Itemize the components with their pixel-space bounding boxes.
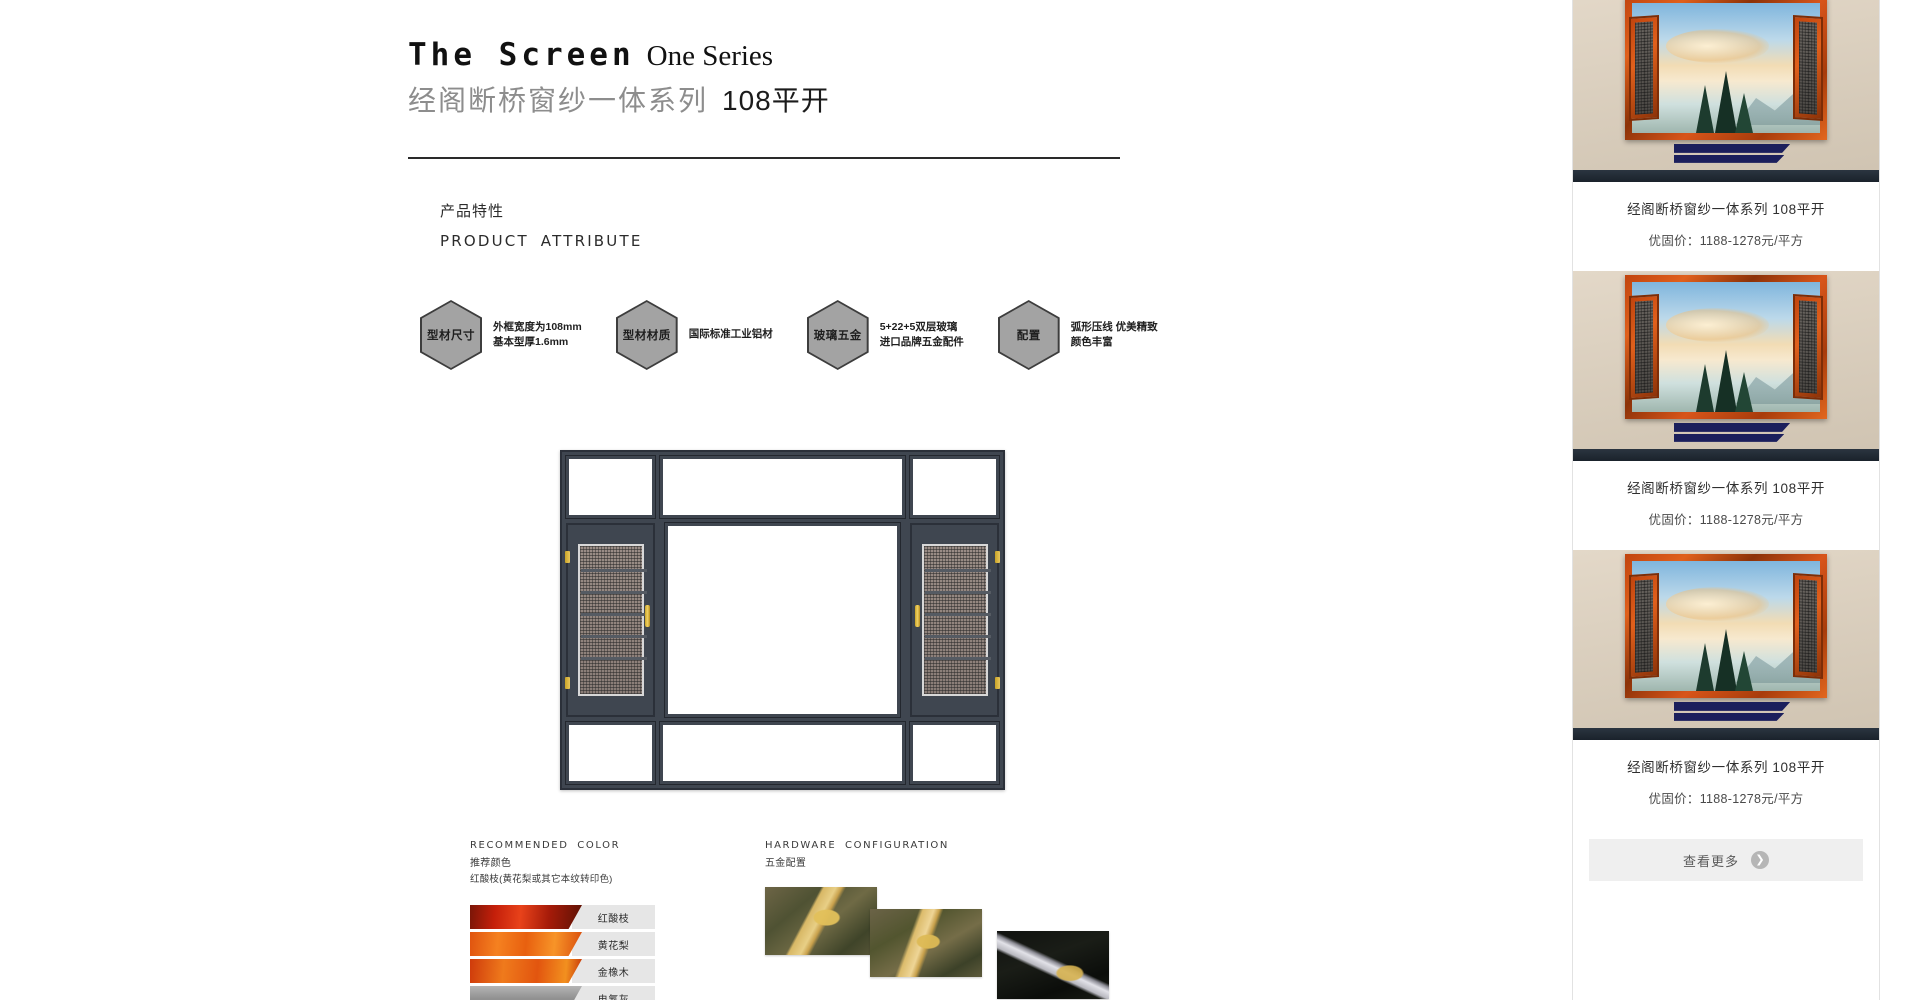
gold-handle-photo-2 bbox=[870, 909, 982, 977]
baseboard bbox=[1573, 449, 1879, 461]
banner-line-1 bbox=[1674, 702, 1790, 711]
insect-screen-mesh bbox=[578, 544, 644, 696]
product-price: 优固价：1188-1278元/平方 bbox=[1573, 230, 1879, 249]
color-section-title-en: RECOMMENDED COLOR bbox=[470, 840, 655, 851]
cloud-shape bbox=[1666, 587, 1769, 621]
badge-description: 弧形压线 优美精致 颜色丰富 bbox=[1071, 320, 1158, 350]
badge-label: 配置 bbox=[1017, 327, 1041, 343]
badge-desc-line-1: 5+22+5双层玻璃 bbox=[880, 320, 964, 335]
hinge-icon bbox=[565, 677, 570, 689]
open-sash-left bbox=[1629, 15, 1659, 121]
badge-desc-line-1: 国际标准工业铝材 bbox=[689, 327, 773, 342]
page-title: The ScreenOne Series 经阁断桥窗纱一体系列108平开 bbox=[408, 40, 1168, 115]
tree-shape bbox=[1715, 350, 1737, 412]
cloud-shape bbox=[1666, 308, 1769, 342]
tree-shape bbox=[1735, 93, 1753, 133]
attribute-badge-profile-size: 型材尺寸 外框宽度为108mm 基本型厚1.6mm bbox=[420, 300, 582, 370]
chevron-right-icon: ❯ bbox=[1751, 851, 1769, 869]
screen-mesh bbox=[1799, 300, 1817, 393]
badge-desc-line-2: 颜色丰富 bbox=[1071, 335, 1158, 350]
attribute-badge-configuration: 配置 弧形压线 优美精致 颜色丰富 bbox=[998, 300, 1158, 370]
color-chip bbox=[470, 932, 582, 956]
window-frame bbox=[560, 450, 1005, 790]
screen-mesh bbox=[1799, 579, 1817, 672]
tree-shape bbox=[1696, 643, 1714, 691]
color-swatch-row[interactable]: 金橡木 bbox=[470, 959, 655, 983]
related-products-sidebar: 经阁断桥窗纱一体系列 108平开 优固价：1188-1278元/平方 bbox=[1245, 0, 1920, 1000]
glass-pane bbox=[566, 722, 655, 784]
color-swatch-row[interactable]: 黄花梨 bbox=[470, 932, 655, 956]
insect-screen-mesh bbox=[922, 544, 988, 696]
badge-description: 国际标准工业铝材 bbox=[689, 327, 773, 342]
window-handle-icon bbox=[645, 605, 650, 627]
mesh-divider bbox=[581, 591, 647, 594]
product-card-text: 经阁断桥窗纱一体系列 108平开 优固价：1188-1278元/平方 bbox=[1573, 461, 1879, 550]
product-title: 经阁断桥窗纱一体系列 108平开 bbox=[1573, 756, 1879, 776]
color-name: 红酸枝 bbox=[572, 905, 655, 929]
badge-desc-line-1: 弧形压线 优美精致 bbox=[1071, 320, 1158, 335]
title-cn-series: 经阁断桥窗纱一体系列 bbox=[408, 85, 708, 116]
product-label-banner bbox=[1674, 702, 1790, 723]
window-row-middle bbox=[566, 523, 999, 717]
open-sash-right bbox=[1793, 15, 1823, 121]
mesh-divider bbox=[925, 591, 991, 594]
color-name: 黄花梨 bbox=[572, 932, 655, 956]
glass-pane bbox=[910, 722, 999, 784]
badge-desc-line-1: 外框宽度为108mm bbox=[493, 320, 582, 335]
product-title: 经阁断桥窗纱一体系列 108平开 bbox=[1573, 477, 1879, 497]
hardware-section-title-cn: 五金配置 bbox=[765, 854, 1165, 869]
attribute-badge-material: 型材材质 国际标准工业铝材 bbox=[616, 300, 773, 370]
attribute-badge-glass-hardware: 玻璃五金 5+22+5双层玻璃 进口品牌五金配件 bbox=[807, 300, 964, 370]
baseboard bbox=[1573, 728, 1879, 740]
color-chip bbox=[470, 905, 582, 929]
hexagon-icon: 配置 bbox=[998, 300, 1060, 370]
title-cn-model: 108平开 bbox=[722, 85, 830, 116]
tree-shape bbox=[1735, 372, 1753, 412]
mesh-divider bbox=[925, 613, 991, 616]
product-card-text: 经阁断桥窗纱一体系列 108平开 优固价：1188-1278元/平方 bbox=[1573, 740, 1879, 829]
banner-line-1 bbox=[1674, 423, 1790, 432]
product-image bbox=[1573, 0, 1879, 182]
hinge-icon bbox=[995, 677, 1000, 689]
banner-line-1 bbox=[1674, 144, 1790, 153]
badge-description: 外框宽度为108mm 基本型厚1.6mm bbox=[493, 320, 582, 350]
screen-mesh bbox=[1635, 21, 1653, 114]
color-section-subtitle-cn: 红酸枝(黄花梨或其它本纹转印色) bbox=[470, 871, 655, 885]
view-more-label: 查看更多 bbox=[1683, 851, 1739, 870]
gold-handle-photo-1 bbox=[765, 887, 877, 955]
cloud-shape bbox=[1666, 29, 1769, 63]
recommended-color-section: RECOMMENDED COLOR 推荐颜色 红酸枝(黄花梨或其它本纹转印色) … bbox=[470, 840, 655, 1000]
color-chip bbox=[470, 986, 582, 1000]
color-section-title-cn: 推荐颜色 bbox=[470, 854, 655, 869]
wood-grain-window-render bbox=[1625, 0, 1827, 140]
glass-pane bbox=[660, 722, 905, 784]
title-chinese: 经阁断桥窗纱一体系列108平开 bbox=[408, 87, 1168, 115]
open-sash-left bbox=[1629, 573, 1659, 679]
badge-desc-line-2: 进口品牌五金配件 bbox=[880, 335, 964, 350]
mesh-divider bbox=[925, 569, 991, 572]
product-card[interactable]: 经阁断桥窗纱一体系列 108平开 优固价：1188-1278元/平方 bbox=[1573, 271, 1879, 550]
product-label-banner bbox=[1674, 423, 1790, 444]
scenery-glass bbox=[1632, 282, 1820, 412]
color-swatch-list: 红酸枝 黄花梨 金橡木 电氟灰 bbox=[470, 905, 655, 1000]
scenery-glass bbox=[1632, 3, 1820, 133]
glass-pane bbox=[566, 456, 655, 518]
main-content-column: The ScreenOne Series 经阁断桥窗纱一体系列108平开 产品特… bbox=[0, 0, 1245, 1000]
tree-shape bbox=[1735, 651, 1753, 691]
banner-line-2 bbox=[1674, 713, 1784, 721]
mesh-divider bbox=[581, 657, 647, 660]
title-series-text: One Series bbox=[647, 40, 773, 72]
attribute-heading-cn: 产品特性 bbox=[440, 200, 643, 221]
glass-pane bbox=[910, 456, 999, 518]
badge-desc-line-2: 基本型厚1.6mm bbox=[493, 335, 582, 350]
hardware-photo-group bbox=[765, 887, 1165, 1000]
title-divider bbox=[408, 157, 1120, 159]
baseboard bbox=[1573, 170, 1879, 182]
open-sash-right bbox=[1793, 573, 1823, 679]
scenery-glass bbox=[1632, 561, 1820, 691]
screen-mesh bbox=[1799, 21, 1817, 114]
hardware-section-title-en: HARDWARE CONFIGURATION bbox=[765, 840, 1165, 851]
open-sash-right bbox=[1793, 294, 1823, 400]
hexagon-icon: 型材材质 bbox=[616, 300, 678, 370]
badge-label: 型材尺寸 bbox=[427, 327, 475, 343]
color-name: 金橡木 bbox=[572, 959, 655, 983]
product-card-text: 经阁断桥窗纱一体系列 108平开 优固价：1188-1278元/平方 bbox=[1573, 182, 1879, 271]
product-title: 经阁断桥窗纱一体系列 108平开 bbox=[1573, 198, 1879, 218]
mesh-divider bbox=[925, 657, 991, 660]
banner-line-2 bbox=[1674, 155, 1784, 163]
product-image bbox=[1573, 550, 1879, 740]
color-swatch-row[interactable]: 电氟灰 bbox=[470, 986, 655, 1000]
view-more-button[interactable]: 查看更多 ❯ bbox=[1589, 839, 1863, 881]
window-row-bottom bbox=[566, 722, 999, 784]
tree-shape bbox=[1715, 629, 1737, 691]
wood-grain-window-render bbox=[1625, 275, 1827, 419]
screen-mesh bbox=[1635, 579, 1653, 672]
product-list-panel: 经阁断桥窗纱一体系列 108平开 优固价：1188-1278元/平方 bbox=[1572, 0, 1880, 1000]
screen-mesh bbox=[1635, 300, 1653, 393]
glass-pane bbox=[660, 456, 905, 518]
window-diagram bbox=[560, 450, 1005, 790]
mesh-divider bbox=[925, 635, 991, 638]
tree-shape bbox=[1715, 71, 1737, 133]
product-image bbox=[1573, 271, 1879, 461]
attribute-badges-row: 型材尺寸 外框宽度为108mm 基本型厚1.6mm 型材材质 国际标准工业铝材 bbox=[420, 300, 1158, 370]
mesh-divider bbox=[581, 569, 647, 572]
product-price: 优固价：1188-1278元/平方 bbox=[1573, 509, 1879, 528]
hinge-icon bbox=[995, 551, 1000, 563]
color-swatch-row[interactable]: 红酸枝 bbox=[470, 905, 655, 929]
product-label-banner bbox=[1674, 144, 1790, 165]
product-card[interactable]: 经阁断桥窗纱一体系列 108平开 优固价：1188-1278元/平方 bbox=[1573, 0, 1879, 271]
title-english: The ScreenOne Series bbox=[408, 40, 1168, 71]
open-sash-left bbox=[1629, 294, 1659, 400]
title-screen-text: The Screen bbox=[408, 37, 635, 73]
product-price: 优固价：1188-1278元/平方 bbox=[1573, 788, 1879, 807]
banner-line-2 bbox=[1674, 434, 1784, 442]
badge-label: 玻璃五金 bbox=[814, 327, 862, 343]
color-name: 电氟灰 bbox=[572, 986, 655, 1000]
mesh-divider bbox=[581, 635, 647, 638]
hexagon-icon: 玻璃五金 bbox=[807, 300, 869, 370]
hardware-configuration-section: HARDWARE CONFIGURATION 五金配置 bbox=[765, 840, 1165, 1000]
product-detail-page: The ScreenOne Series 经阁断桥窗纱一体系列108平开 产品特… bbox=[0, 0, 1920, 1000]
mesh-divider bbox=[581, 613, 647, 616]
product-attribute-heading: 产品特性 PRODUCT ATTRIBUTE bbox=[440, 200, 643, 250]
color-chip bbox=[470, 959, 582, 983]
hexagon-icon: 型材尺寸 bbox=[420, 300, 482, 370]
tree-shape bbox=[1696, 85, 1714, 133]
window-handle-icon bbox=[915, 605, 920, 627]
handle-dark-photo-3 bbox=[997, 931, 1109, 999]
fixed-center-glass-pane bbox=[665, 523, 900, 717]
window-row-top bbox=[566, 456, 999, 518]
hinge-icon bbox=[565, 551, 570, 563]
wood-grain-window-render bbox=[1625, 554, 1827, 698]
product-card[interactable]: 经阁断桥窗纱一体系列 108平开 优固价：1188-1278元/平方 bbox=[1573, 550, 1879, 829]
casement-sash-right bbox=[910, 523, 999, 717]
badge-description: 5+22+5双层玻璃 进口品牌五金配件 bbox=[880, 320, 964, 350]
badge-label: 型材材质 bbox=[623, 327, 671, 343]
casement-sash-left bbox=[566, 523, 655, 717]
tree-shape bbox=[1696, 364, 1714, 412]
attribute-heading-en: PRODUCT ATTRIBUTE bbox=[440, 232, 643, 250]
